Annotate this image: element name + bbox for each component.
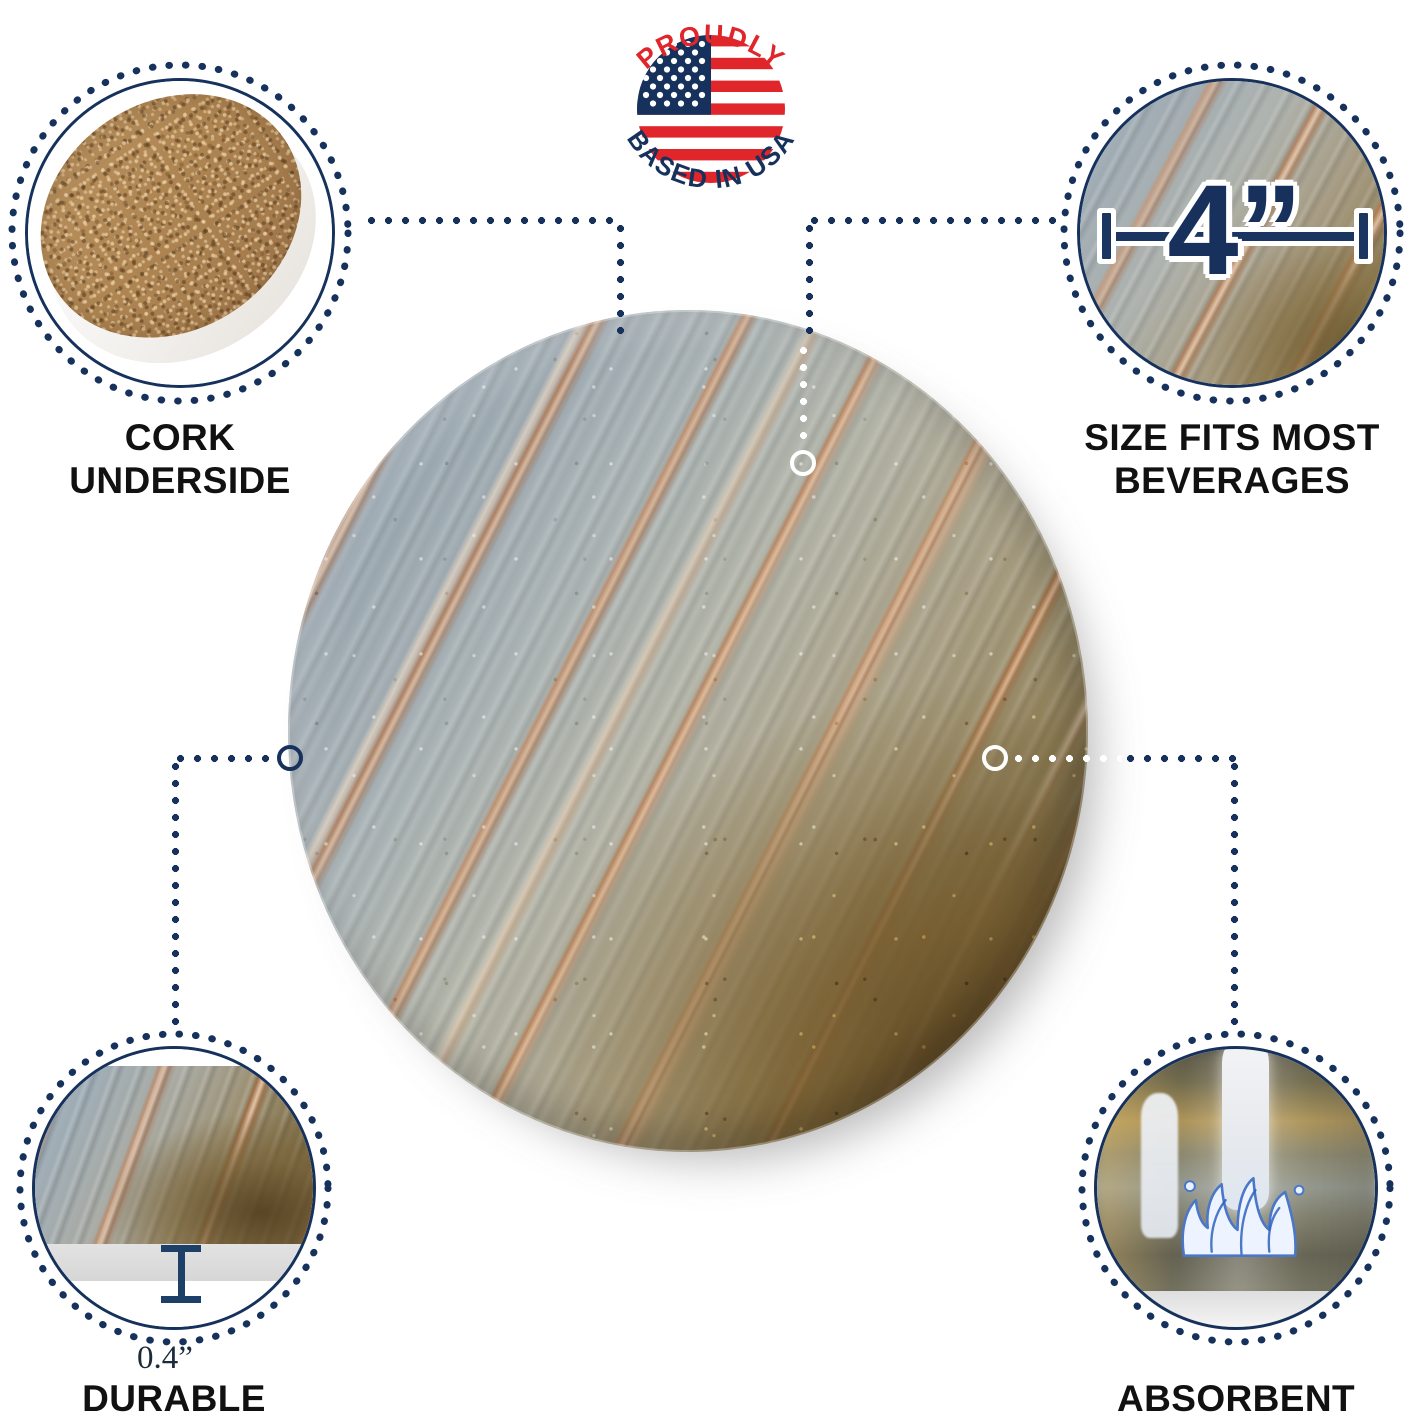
connector-absorbent-vertical — [1231, 758, 1238, 1030]
water-crown-splash — [1172, 1160, 1311, 1260]
feature-durable[interactable]: 0.4” — [14, 1028, 334, 1348]
feature-absorbent[interactable] — [1076, 1028, 1396, 1348]
hero-marker-absorbent — [982, 745, 1008, 771]
connector-size-vertical-navy — [806, 220, 813, 342]
connector-durable-vertical — [172, 758, 179, 1028]
connector-absorbent-horizontal-navy — [1122, 755, 1238, 762]
thickness-cap-bottom — [161, 1296, 201, 1303]
dimension-value-label: 4” — [1167, 167, 1302, 295]
connector-cork-horizontal — [363, 217, 621, 224]
dimension-cap-right — [1359, 213, 1368, 259]
cork-circle-frame — [25, 78, 335, 388]
hero-marker-size — [790, 450, 816, 476]
coaster-side-view-image — [35, 1049, 313, 1327]
size-circle-frame: 4” — [1077, 78, 1387, 388]
water-splash-image — [1097, 1049, 1375, 1327]
size-marble-image: 4” — [1080, 81, 1384, 385]
thickness-value-label: 0.4” — [110, 1340, 220, 1377]
proudly-based-in-usa-badge: PROUDLY BASED IN USA — [600, 2, 822, 216]
hero-marker-durable — [277, 745, 303, 771]
infographic-canvas: PROUDLY BASED IN USA CORK UNDERSIDE — [0, 0, 1412, 1421]
thickness-dimension-marker — [161, 1245, 201, 1303]
durable-circle-frame — [32, 1046, 316, 1330]
connector-durable-horizontal — [172, 755, 280, 762]
width-dimension-marker: 4” — [1102, 211, 1368, 261]
thickness-stem — [178, 1245, 185, 1303]
marble-side-texture — [35, 1066, 313, 1244]
connector-cork-vertical — [617, 220, 624, 340]
feature-size-fits-most-beverages[interactable]: 4” — [1058, 59, 1406, 407]
connector-size-vertical-white — [800, 342, 807, 446]
caption-size-fits-most-beverages: SIZE FITS MOST BEVERAGES — [1052, 417, 1412, 503]
dimension-cap-left — [1102, 213, 1111, 259]
absorbent-circle-frame — [1094, 1046, 1378, 1330]
connector-size-horizontal — [806, 217, 1058, 224]
connector-absorbent-horizontal-white — [1010, 755, 1122, 762]
caption-durable: DURABLE — [14, 1378, 334, 1421]
thickness-cap-top — [161, 1245, 201, 1252]
coaster-base-edge — [1097, 1291, 1375, 1327]
caption-cork-underside: CORK UNDERSIDE — [20, 417, 340, 503]
feature-cork-underside[interactable] — [6, 59, 354, 407]
coaster-edge-highlight — [288, 310, 1088, 1152]
hero-product-image — [288, 310, 1088, 1152]
caption-absorbent: ABSORBENT — [1076, 1378, 1396, 1421]
cork-underside-image — [28, 81, 332, 385]
